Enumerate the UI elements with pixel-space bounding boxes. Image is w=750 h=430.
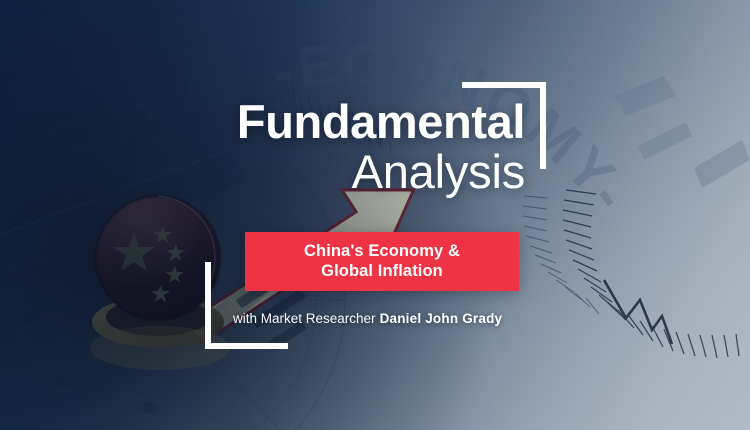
byline: with Market ResearcherDaniel John Grady xyxy=(233,311,502,326)
byline-presenter-name: Daniel John Grady xyxy=(380,311,503,326)
bracket-bar-horizontal xyxy=(462,82,546,88)
page-title: Fundamental Analysis xyxy=(105,98,525,195)
title-line-1: Fundamental xyxy=(105,98,525,145)
topic-banner: China's Economy & Global Inflation xyxy=(245,232,519,291)
title-card: -ECONOMY- xyxy=(0,0,750,430)
byline-prefix: with Market Researcher xyxy=(233,311,376,326)
bracket-bar-horizontal xyxy=(205,343,288,349)
background-sheen xyxy=(0,0,750,430)
bracket-bar-vertical xyxy=(205,262,211,349)
bracket-bar-vertical xyxy=(540,82,546,169)
topic-banner-line-2: Global Inflation xyxy=(321,263,443,280)
title-line-2: Analysis xyxy=(105,148,525,195)
topic-banner-line-1: China's Economy & xyxy=(304,243,460,260)
